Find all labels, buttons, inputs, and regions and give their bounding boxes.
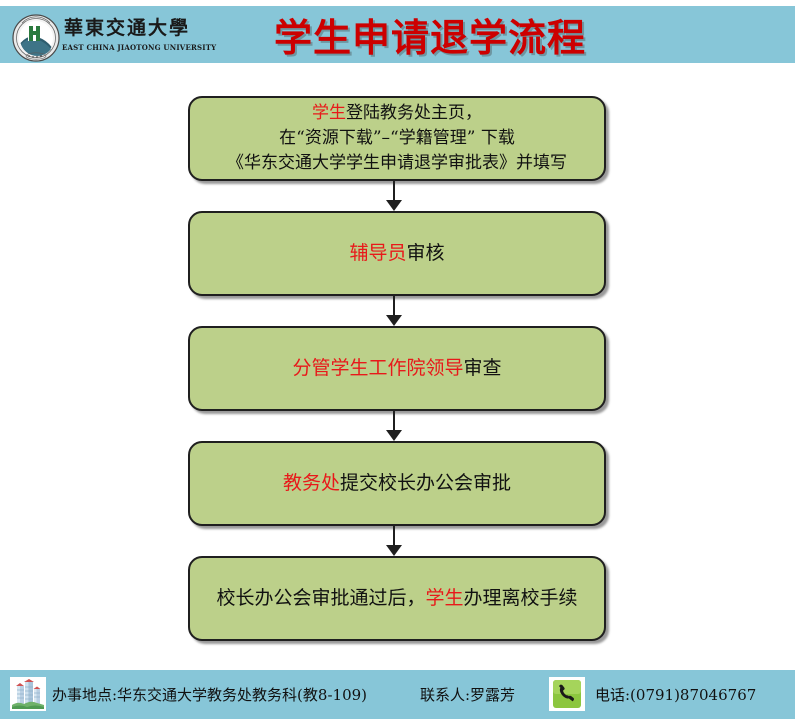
slide-root: 華東交通大學 EAST CHINA JIAOTONG UNIVERSITY 学生…: [0, 0, 795, 719]
flow-step-text: 校长办公会审批通过后，学生办理离校手续: [206, 586, 587, 611]
highlighted-term: 辅导员: [349, 242, 406, 264]
highlighted-term: 学生: [425, 587, 463, 609]
flow-step-line: 学生登陆教务处主页，: [227, 101, 567, 126]
flow-step-line: 在“资源下载”–“学籍管理” 下载: [227, 126, 567, 151]
step-3-college-leader-review: 分管学生工作院领导审查: [188, 326, 606, 411]
flow-step-line: 辅导员审核: [349, 241, 444, 266]
step-5-leave-procedures: 校长办公会审批通过后，学生办理离校手续: [188, 556, 606, 641]
flow-arrow-icon: [386, 545, 402, 556]
plain-term: 校长办公会审批通过后，: [216, 587, 425, 609]
plain-term: 《华东交通大学学生申请退学审批表》并填写: [227, 153, 567, 173]
flowchart: 学生登陆教务处主页，在“资源下载”–“学籍管理” 下载《华东交通大学学生申请退学…: [0, 63, 795, 670]
footer-location-text: 办事地点:华东交通大学教务处教务科(教8-109): [52, 684, 367, 705]
flow-step-line: 《华东交通大学学生申请退学审批表》并填写: [227, 151, 567, 176]
flow-step-text: 分管学生工作院领导审查: [282, 356, 511, 381]
flow-connector-line: [393, 296, 395, 316]
footer-band: 办事地点:华东交通大学教务处教务科(教8-109) 联系人:罗露芳 电话:(07…: [0, 670, 795, 719]
plain-term: 审查: [464, 357, 502, 379]
plain-term: 办理离校手续: [464, 587, 578, 609]
step-4-academic-affairs-submit: 教务处提交校长办公会审批: [188, 441, 606, 526]
flow-step-line: 分管学生工作院领导审查: [292, 356, 501, 381]
school-name-en: EAST CHINA JIAOTONG UNIVERSITY: [62, 43, 192, 53]
flow-connector-line: [393, 526, 395, 546]
footer-phone-text: 电话:(0791)87046767: [595, 684, 756, 705]
footer-contact-text: 联系人:罗露芳: [420, 684, 515, 705]
plain-term: 在“资源下载”–“学籍管理” 下载: [279, 128, 515, 148]
plain-term: 提交校长办公会审批: [340, 472, 511, 494]
header-band: 華東交通大學 EAST CHINA JIAOTONG UNIVERSITY 学生…: [0, 6, 795, 63]
flow-connector-line: [393, 181, 395, 201]
plain-term: 审核: [407, 242, 445, 264]
flow-step-line: 校长办公会审批通过后，学生办理离校手续: [216, 586, 577, 611]
school-name: 華東交通大學 EAST CHINA JIAOTONG UNIVERSITY: [62, 16, 192, 53]
flow-connector-line: [393, 411, 395, 431]
school-name-cn: 華東交通大學: [62, 16, 192, 40]
highlighted-term: 分管学生工作院领导: [292, 357, 463, 379]
flow-arrow-icon: [386, 315, 402, 326]
flow-arrow-icon: [386, 430, 402, 441]
university-seal-icon: [10, 13, 62, 63]
flow-step-text: 辅导员审核: [339, 241, 454, 266]
plain-term: 登陆教务处主页，: [346, 103, 482, 123]
flow-step-line: 教务处提交校长办公会审批: [283, 471, 511, 496]
flow-arrow-icon: [386, 200, 402, 211]
step-2-counselor-review: 辅导员审核: [188, 211, 606, 296]
highlighted-term: 教务处: [283, 472, 340, 494]
phone-icon: [549, 677, 585, 711]
highlighted-term: 学生: [312, 103, 346, 123]
flow-step-text: 学生登陆教务处主页，在“资源下载”–“学籍管理” 下载《华东交通大学学生申请退学…: [217, 101, 577, 176]
step-1-download-form: 学生登陆教务处主页，在“资源下载”–“学籍管理” 下载《华东交通大学学生申请退学…: [188, 96, 606, 181]
building-icon: [10, 677, 46, 711]
flow-step-text: 教务处提交校长办公会审批: [273, 471, 521, 496]
page-title: 学生申请退学流程: [230, 6, 630, 63]
